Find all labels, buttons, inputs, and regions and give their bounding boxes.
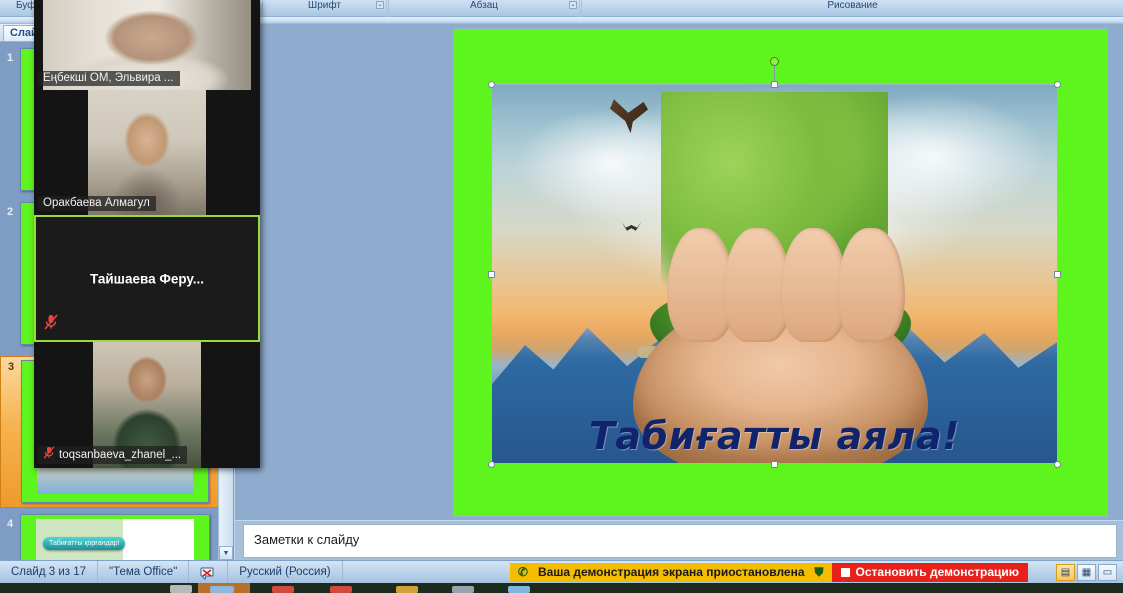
- participant-name-2-label: Оракбаева Алмагул: [43, 197, 150, 209]
- stop-share-button[interactable]: Остановить демонстрацию: [832, 563, 1028, 582]
- language-status[interactable]: Русский (Россия): [228, 561, 342, 584]
- participant-name-2: Оракбаева Алмагул: [38, 196, 156, 211]
- ribbon-group-font[interactable]: Шрифт ⌄: [262, 0, 387, 17]
- screen-share-notice: ✆ Ваша демонстрация экрана приостановлен…: [510, 563, 832, 582]
- taskbar-item[interactable]: [330, 586, 352, 593]
- font-dialog-launcher-icon[interactable]: ⌄: [376, 1, 384, 9]
- status-bar-spacer-2: [1028, 561, 1050, 584]
- slide-counter-label: Слайд 3 из 17: [11, 566, 86, 578]
- resize-handle-top-left[interactable]: [488, 81, 495, 88]
- finger-shape: [837, 228, 905, 342]
- rotate-handle[interactable]: [770, 57, 779, 66]
- video-tile-2[interactable]: Оракбаева Алмагул: [34, 90, 260, 215]
- thumbnail-4-title: Табиғатты қорғандар!: [43, 537, 125, 550]
- participant-name-3-label: Тайшаева Феру...: [90, 271, 204, 286]
- video-letterbox-right: [206, 90, 260, 215]
- thumbnail-number-2: 2: [0, 202, 20, 218]
- participant-name-1: Еңбекші ОМ, Эльвира ...: [38, 71, 180, 86]
- proofing-status[interactable]: [189, 561, 228, 584]
- stop-share-label: Остановить демонстрацию: [856, 565, 1019, 579]
- microphone-muted-icon: [43, 446, 55, 461]
- taskbar-item[interactable]: [210, 586, 234, 593]
- slide-show-view-icon: ▭: [1103, 567, 1112, 578]
- share-notice-label: Ваша демонстрация экрана приостановлена: [538, 565, 805, 579]
- screen: Буфе Шрифт ⌄ Абзац ⌄ Рисование Слай: [0, 0, 1123, 593]
- ribbon-group-drawing[interactable]: Рисование: [581, 0, 1123, 17]
- status-bar: Слайд 3 из 17 "Тема Office" Русский (Рос…: [0, 560, 1123, 583]
- participant-name-4-label: toqsanbaeva_zhanel_...: [59, 449, 181, 461]
- language-label: Русский (Россия): [239, 566, 330, 578]
- resize-handle-top-center[interactable]: [771, 81, 778, 88]
- thumbnail-4-canvas: Табиғатты қорғандар!: [21, 515, 209, 560]
- taskbar-item[interactable]: [272, 586, 294, 593]
- theme-name[interactable]: "Тема Office": [98, 561, 189, 584]
- taskbar-item[interactable]: [508, 586, 530, 593]
- theme-name-label: "Тема Office": [109, 566, 177, 578]
- thumbnail-number-4: 4: [0, 514, 20, 530]
- slide-picture[interactable]: Табиғатты аяла!: [491, 84, 1058, 464]
- stop-square-icon: [841, 568, 850, 577]
- resize-handle-middle-right[interactable]: [1054, 271, 1061, 278]
- spellcheck-error-icon: [200, 565, 216, 580]
- video-tile-1[interactable]: Еңбекші ОМ, Эльвира ...: [34, 0, 260, 90]
- normal-view-button[interactable]: ▤: [1056, 564, 1075, 581]
- thumbnail-number-1: 1: [0, 48, 20, 64]
- desktop-taskbar[interactable]: [0, 583, 1123, 593]
- slide-title-text[interactable]: Табиғатты аяла!: [491, 414, 1058, 458]
- ribbon-group-paragraph[interactable]: Абзац ⌄: [388, 0, 580, 17]
- paragraph-dialog-launcher-icon[interactable]: ⌄: [569, 1, 577, 9]
- slide-canvas[interactable]: Табиғатты аяла!: [453, 28, 1108, 517]
- ribbon-group-font-label: Шрифт: [308, 0, 341, 11]
- status-bar-spacer: [343, 561, 510, 584]
- slide-sorter-view-button[interactable]: ▦: [1077, 564, 1096, 581]
- notes-input[interactable]: Заметки к слайду: [243, 524, 1117, 558]
- ribbon-group-drawing-label: Рисование: [827, 0, 877, 11]
- video-letterbox-right: [201, 342, 260, 468]
- notes-pane[interactable]: Заметки к слайду: [235, 521, 1123, 560]
- shield-icon[interactable]: ⛊: [815, 565, 824, 580]
- microphone-muted-icon: [44, 314, 58, 334]
- zoom-video-panel[interactable]: Еңбекші ОМ, Эльвира ... Оракбаева Алмагу…: [34, 0, 260, 468]
- slide-editing-stage[interactable]: Табиғатты аяла!: [235, 24, 1123, 520]
- ribbon-group-paragraph-label: Абзац: [470, 0, 498, 11]
- slide-sorter-view-icon: ▦: [1082, 567, 1091, 578]
- participant-name-1-label: Еңбекші ОМ, Эльвира ...: [43, 72, 174, 84]
- participant-name-3: Тайшаева Феру...: [36, 271, 258, 286]
- taskbar-item[interactable]: [396, 586, 418, 593]
- video-tile-4[interactable]: toqsanbaeva_zhanel_...: [34, 342, 260, 468]
- video-tile-3[interactable]: Тайшаева Феру...: [34, 215, 260, 342]
- normal-view-icon: ▤: [1061, 567, 1070, 578]
- resize-handle-middle-left[interactable]: [488, 271, 495, 278]
- resize-handle-bottom-left[interactable]: [488, 461, 495, 468]
- view-buttons-group: ▤ ▦ ▭: [1050, 564, 1123, 581]
- slide-show-view-button[interactable]: ▭: [1098, 564, 1117, 581]
- taskbar-item[interactable]: [452, 586, 474, 593]
- participant-name-4: toqsanbaeva_zhanel_...: [38, 446, 187, 464]
- thumbnail-row-4[interactable]: 4 Табиғатты қорғандар!: [0, 514, 234, 560]
- slide-counter[interactable]: Слайд 3 из 17: [0, 561, 98, 584]
- resize-handle-bottom-right[interactable]: [1054, 461, 1061, 468]
- thumbnail-number-3: 3: [1, 357, 21, 373]
- thumbnail-4[interactable]: Табиғатты қорғандар!: [20, 514, 210, 560]
- taskbar-item[interactable]: [170, 585, 192, 593]
- video-letterbox-right: [251, 0, 260, 90]
- scroll-down-button[interactable]: ▼: [219, 546, 233, 560]
- phone-icon: ✆: [518, 565, 528, 579]
- resize-handle-bottom-center[interactable]: [771, 461, 778, 468]
- resize-handle-top-right[interactable]: [1054, 81, 1061, 88]
